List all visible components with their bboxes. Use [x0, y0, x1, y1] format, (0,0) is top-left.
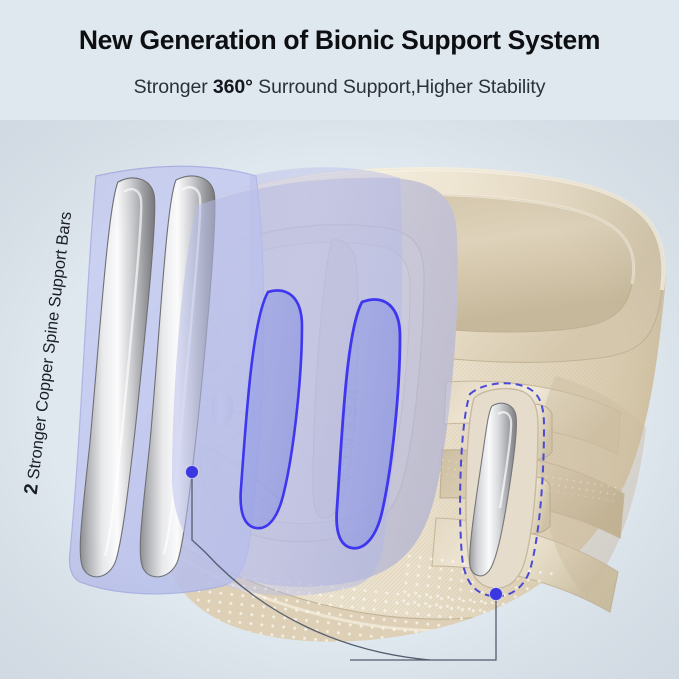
infographic-root: New Generation of Bionic Support System …: [0, 0, 679, 679]
header: New Generation of Bionic Support System …: [0, 0, 679, 120]
brace-artwork: NEENCA: [0, 120, 679, 679]
subtitle-text-before: Stronger: [134, 76, 213, 98]
product-illustration: NEENCA: [0, 120, 679, 679]
subtitle-emphasis-360: 360°: [213, 76, 253, 98]
page-subtitle: Stronger 360° Surround Support,Higher St…: [0, 78, 679, 98]
subtitle-text-after: Surround Support,Higher Stability: [253, 76, 546, 98]
page-title: New Generation of Bionic Support System: [0, 27, 679, 54]
